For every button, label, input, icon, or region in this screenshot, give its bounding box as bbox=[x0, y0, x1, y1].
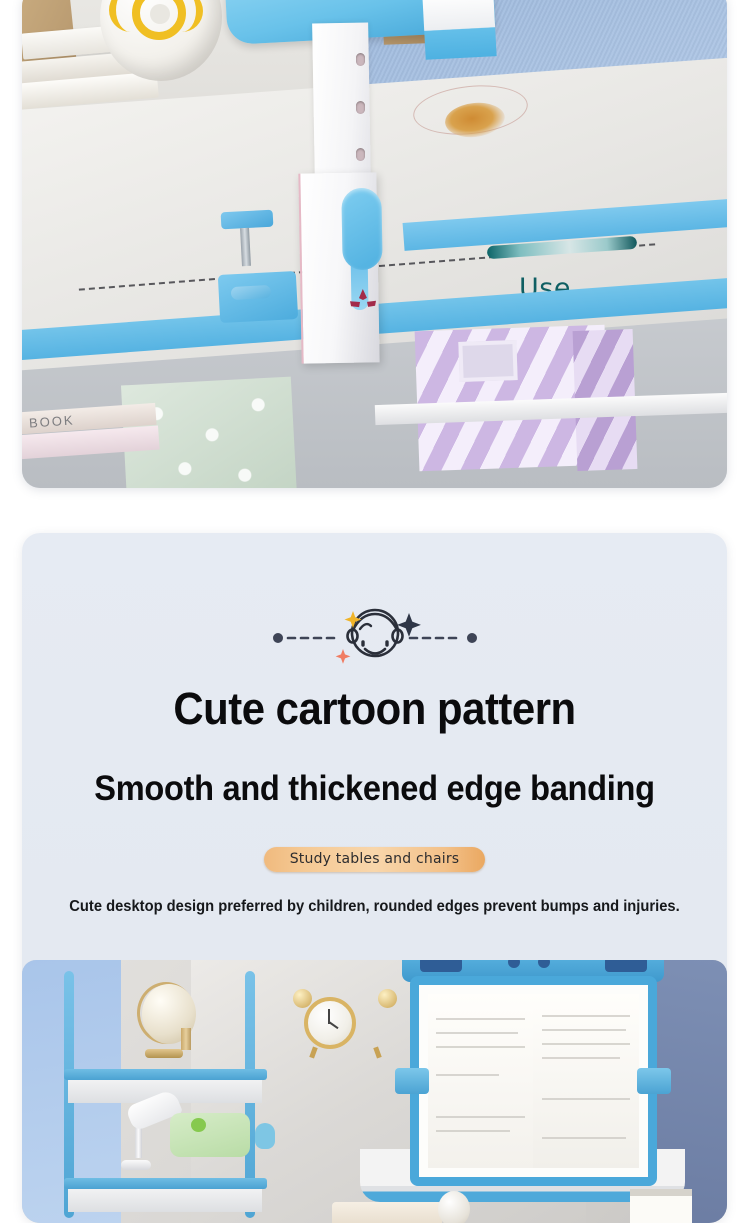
hero-product-photo: migo Use bbox=[22, 0, 727, 488]
book-stand bbox=[410, 976, 657, 1186]
globe-base bbox=[145, 1049, 183, 1058]
hero-product-image-card[interactable]: migo Use bbox=[22, 0, 727, 488]
shelf-front-plate bbox=[64, 1069, 267, 1080]
globe-stand bbox=[181, 1028, 191, 1050]
lamp-base bbox=[121, 1160, 151, 1170]
pencil-case-sticker bbox=[255, 1123, 275, 1149]
divider-dot-left bbox=[273, 633, 283, 643]
smiling-child-face-icon bbox=[347, 610, 402, 656]
child-face-divider bbox=[22, 595, 727, 665]
shelf-front-plate bbox=[64, 1178, 267, 1189]
brand-leaf-logo-icon bbox=[346, 288, 380, 315]
chair-back-support bbox=[422, 0, 496, 60]
status-badge: Study tables and chairs bbox=[264, 847, 486, 872]
alarm-clock-icon bbox=[304, 997, 356, 1049]
lower-book-text: BOOK bbox=[29, 412, 76, 430]
photo-frame bbox=[458, 340, 517, 382]
sparkle-yellow-icon bbox=[344, 611, 361, 628]
divider-dot-right bbox=[467, 633, 477, 643]
book-stand-frame bbox=[410, 976, 657, 1186]
clamp-head bbox=[220, 209, 273, 229]
notepad bbox=[630, 1189, 692, 1223]
feature-info-card: Cute cartoon pattern Smooth and thickene… bbox=[22, 533, 727, 1223]
page-title: Cute cartoon pattern bbox=[47, 683, 703, 735]
feature-caption: Cute desktop design preferred by childre… bbox=[40, 898, 710, 916]
page-subtitle: Smooth and thickened edge banding bbox=[47, 769, 703, 809]
open-book-left-page bbox=[428, 994, 533, 1168]
book-stand-clip bbox=[395, 1068, 429, 1094]
desk-items bbox=[332, 1202, 442, 1223]
post-slot bbox=[356, 53, 365, 66]
pencil-case bbox=[170, 1113, 250, 1157]
post-slot bbox=[356, 101, 365, 114]
child-face-divider-graphic bbox=[270, 595, 480, 665]
clock-bell bbox=[378, 989, 397, 1008]
bb8-toy-icon bbox=[438, 1191, 470, 1223]
book-stand-slot bbox=[605, 960, 647, 972]
desk-shelf-image[interactable] bbox=[22, 960, 727, 1223]
clamp-screw bbox=[240, 228, 251, 266]
open-book-right-page bbox=[533, 994, 638, 1168]
post-slot bbox=[356, 148, 365, 161]
height-adjust-lever bbox=[341, 188, 382, 271]
book-stand-clip bbox=[637, 1068, 671, 1094]
pencil-case-sticker bbox=[191, 1118, 206, 1132]
sparkle-salmon-icon bbox=[335, 649, 350, 664]
toy-center-dot bbox=[150, 4, 170, 24]
clamp-foot bbox=[230, 284, 271, 299]
badge-container: Study tables and chairs bbox=[22, 847, 727, 872]
book-stand-slot bbox=[420, 960, 462, 972]
